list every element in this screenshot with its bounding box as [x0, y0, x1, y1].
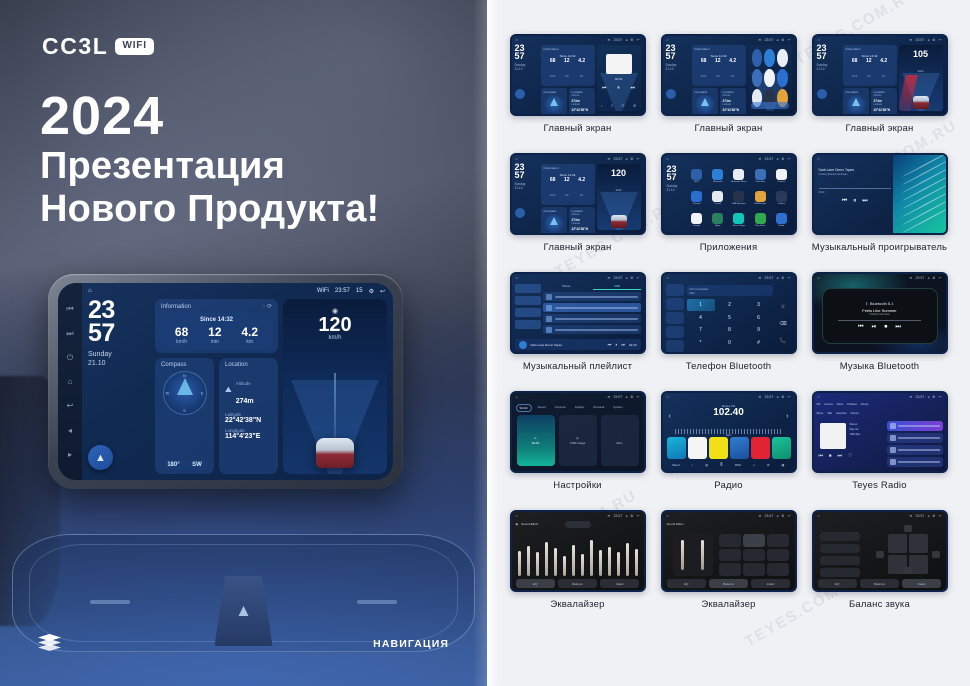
app-icon[interactable]	[733, 213, 744, 224]
volume-down-icon[interactable]: ◂	[66, 426, 75, 435]
app-icon[interactable]	[764, 69, 775, 87]
mini-information-label: Information	[544, 166, 592, 170]
compass-west: W	[166, 391, 170, 396]
home-icon: ⌂	[667, 38, 669, 42]
location-label: Location	[225, 362, 248, 368]
eq-tabs[interactable]: EQBalanceFader	[818, 579, 942, 588]
mini-player-bar[interactable]: Dark Lane Demo Tapes ⏮⏸⏭ 02:40	[515, 339, 641, 350]
wifi-icon: ≋	[607, 38, 610, 42]
back-icon: ↩	[636, 395, 639, 399]
bluetooth-version: ᛒBluetooth 5.1	[866, 301, 894, 306]
eq-preset-label: Sound Effect	[667, 522, 684, 526]
preset-tile	[667, 437, 686, 459]
mini-information-label: Information	[544, 47, 592, 51]
mini-speed-panel: 105km/h	[899, 45, 943, 111]
app-icon[interactable]	[755, 169, 766, 180]
mini-screen[interactable]: ⌂ ≋ 23:57 ◂ ⚙ ↩ 23 57 Sunday21.10 Inform…	[512, 155, 644, 233]
information-icons[interactable]: ◌ ⟳	[262, 303, 272, 310]
thumb-music-playlist[interactable]: ⌂ ≋ 23:57 ◂ ⚙ ↩ PhoneUSB Dark Lane Demo …	[510, 272, 646, 354]
dial-key[interactable]: #	[745, 337, 773, 349]
grid-cell: ⌂ ≋ 23:57 ◂ ⚙ ↩ Not ConnectedDial 123456…	[656, 272, 801, 383]
side-button-rail[interactable]: ⏮ ⏭ ⏻ ⌂ ↩ ◂ ▸	[58, 283, 82, 480]
longitude-row: Longitude 114°4'23"E	[225, 428, 272, 440]
tab-system[interactable]: System	[610, 404, 625, 412]
app-icon[interactable]	[712, 191, 723, 202]
thumb-caption: Приложения	[700, 242, 758, 264]
loc-icon: ⌖	[753, 463, 755, 467]
volume-icon: ◂	[927, 276, 929, 280]
mini-screen[interactable]: ⌂ ≋ 23:57 ◂ ⚙ ↩Sound Effect EQBalanceFad…	[663, 512, 795, 590]
grid-cell: ⌂ ≋ 23:57 ◂ ⚙ ↩ FMGenresNewsPodcastLibra…	[807, 391, 952, 502]
compass-points: N S W E	[164, 372, 206, 414]
widget-column: Information ◌ ⟳ Since 14:32 68	[155, 299, 278, 474]
eq-band-slider[interactable]	[635, 549, 638, 576]
app-icon[interactable]	[776, 169, 787, 180]
balance-right-button[interactable]	[932, 551, 940, 558]
mini-screen[interactable]: ⌂ ≋ 23:57 ◂ ⚙ ↩ Dark Lane Demo Tapes Cha…	[814, 155, 946, 233]
thumb-settings[interactable]: ⌂ ≋ 23:57 ◂ ⚙ ↩ WLANSoundCommonDisplayPe…	[510, 391, 646, 473]
preset-tile	[688, 437, 707, 459]
grid-cell: ⌂ ≋ 23:57 ◂ ⚙ ↩Sound Effect EQBalanceFad…	[656, 510, 801, 621]
eq-band-slider[interactable]	[536, 552, 539, 576]
app-icon[interactable]	[764, 49, 775, 67]
tab-fader[interactable]: Fader	[600, 579, 639, 588]
app-tile[interactable]: Bluetooth Music	[729, 165, 749, 186]
list-item	[887, 421, 943, 431]
mini-stat: 12min	[564, 59, 570, 82]
mini-compass-card: Compass 180°SW	[541, 88, 567, 114]
tab-sound[interactable]: Sound	[535, 404, 549, 412]
teyes-top-tabs[interactable]: FMGenresNewsPodcastLibrary	[817, 403, 943, 406]
thumb-sound-balance[interactable]: ⌂ ≋ 23:57 ◂ ⚙ ↩ EQBalanceFader	[812, 510, 948, 592]
back-icon: ↩	[938, 395, 941, 399]
mini-compass-label: Compass	[544, 90, 564, 94]
mini-location-card: Location Altitude 274m Latitude 22°42'38…	[720, 88, 746, 114]
status-home-icon[interactable]: ⌂	[88, 288, 92, 294]
app-tile[interactable]: Gallery	[771, 187, 791, 208]
home-icon: ⌂	[516, 514, 518, 518]
speed-icon: ◉	[283, 307, 387, 315]
wifi-icon: ≋	[607, 276, 610, 280]
navigation-arrow-icon[interactable]	[515, 208, 525, 218]
app-tile[interactable]: Calculator	[750, 165, 770, 186]
thumb-caption: Главный экран	[544, 242, 612, 264]
mini-time: 23:57	[613, 395, 622, 399]
tab-eq[interactable]: EQ	[818, 579, 857, 588]
list-item[interactable]	[543, 303, 641, 312]
settings-tabs[interactable]: WLANSoundCommonDisplayPersonalSystem	[516, 404, 640, 412]
compass-dial	[544, 214, 564, 233]
compass-header: Compass	[161, 362, 208, 368]
mini-information-label: Information	[846, 47, 894, 51]
eq-band-slider[interactable]	[599, 550, 602, 576]
mini-status-right: ≋ 23:57 ◂ ⚙ ↩	[607, 514, 639, 518]
teyes-filter-row[interactable]: MusicTalkFavoritesRecent	[817, 412, 943, 415]
dial-key[interactable]: 4	[687, 312, 715, 324]
information-label: Information	[161, 304, 191, 310]
navigation-arrow-icon[interactable]	[817, 89, 827, 99]
station-presets[interactable]	[667, 437, 791, 459]
mini-stat: 4.2km	[578, 59, 585, 82]
app-icon[interactable]	[691, 213, 702, 224]
app-tile[interactable]: Google	[687, 209, 707, 230]
compass-dial: N S W E	[163, 371, 207, 415]
gear-icon: ⚙	[781, 276, 784, 280]
mini-latitude-value: 22°42'38"N	[874, 108, 894, 112]
mini-information-card: Information Since 14:32 68km/h12min4.2km	[541, 164, 595, 205]
mini-information-card: Information Since 14:32 68km/h12min4.2km	[541, 45, 595, 86]
radio-toolbar[interactable]: Band⌕▤ ≣RDS⌖ ⚙▦	[667, 461, 791, 469]
list-item[interactable]	[543, 314, 641, 323]
sidebar-item-search	[666, 312, 684, 324]
mini-status-right: ≋ 23:57 ◂ ⚙ ↩	[758, 395, 790, 399]
mini-screen[interactable]: ⌂ ≋ 23:57 ◂ ⚙ ↩ PhoneUSB Dark Lane Demo …	[512, 274, 644, 352]
eq-band-slider[interactable]	[626, 543, 629, 576]
thumb-equalizer-presets[interactable]: ⌂ ≋ 23:57 ◂ ⚙ ↩Sound Effect EQBalanceFad…	[661, 510, 797, 592]
player-controls[interactable]: ⏮⏯⏹⏭	[858, 324, 901, 331]
gear-icon: ⚙	[932, 395, 935, 399]
stat-unit: min	[208, 339, 221, 345]
grid-cell: ⌂ ≋ 23:57 ◂ ⚙ ↩ 23 57 Sunday21.10 Inform…	[505, 153, 650, 264]
app-tile[interactable]: Carlink	[708, 187, 728, 208]
layers-icon	[38, 634, 61, 654]
gear-icon: ⚙	[630, 276, 633, 280]
thumb-caption: Главный экран	[695, 123, 763, 145]
mini-latitude-value: 22°42'38"N	[572, 108, 592, 112]
hero-edge-highlight	[473, 0, 487, 686]
grid-cell: ⌂ ≋ 23:57 ◂ ⚙ ↩‹ › Maybe FM 102.40 Next …	[656, 391, 801, 502]
app-icon[interactable]	[712, 169, 723, 180]
tab-balance[interactable]: Balance	[709, 579, 748, 588]
app-tile[interactable]: FileManager	[750, 187, 770, 208]
mini-compass-card: Compass 180°SW	[692, 88, 718, 114]
mini-home: 23 57 Sunday21.10 Information Since 14:3…	[666, 45, 792, 111]
app-tile[interactable]: Camera	[771, 165, 791, 186]
wifi-icon: ≋	[909, 395, 912, 399]
dial-key[interactable]: *	[687, 337, 715, 349]
tab-eq[interactable]: EQ	[516, 579, 555, 588]
app-icon[interactable]	[691, 191, 702, 202]
back-icon: ↩	[938, 514, 941, 518]
mini-screen[interactable]: ⌂ ≋ 23:57 ◂ ⚙ ↩ EQBalanceFader	[814, 512, 946, 590]
player-controls[interactable]: ⏮⏸⏭	[817, 198, 894, 205]
app-icon[interactable]	[776, 213, 787, 224]
previous-icon: ⏮	[858, 324, 863, 331]
dial-key[interactable]: 5	[716, 312, 744, 324]
bluetooth-player: ᛒBluetooth 5.1 Feels Like Summer Childis…	[822, 288, 938, 344]
tab-balance[interactable]: Balance	[558, 579, 597, 588]
volume-icon: ◂	[927, 395, 929, 399]
mini-app-panel	[748, 45, 792, 111]
mini-trip: Since 14:32 68km/h12min4.2km	[695, 52, 743, 84]
mini-time: 23:57	[915, 38, 924, 42]
home-icon: ⌂	[516, 276, 518, 280]
fader-sliders[interactable]	[673, 534, 713, 576]
tab-fader[interactable]: Fader	[902, 579, 941, 588]
app-tile[interactable]: Radio	[771, 209, 791, 230]
eq-band-slider[interactable]	[518, 551, 521, 576]
app-icon[interactable]	[733, 191, 744, 202]
wifi-icon: ≋	[607, 395, 610, 399]
tab-wlan[interactable]: WLAN	[516, 404, 532, 412]
home-icon: ⌂	[667, 514, 669, 518]
home-icon: ⌂	[818, 514, 820, 518]
app-drawer[interactable]: AUXBluetoothBluetooth MusicCalculatorCam…	[687, 165, 792, 230]
tab-eq[interactable]: EQ	[667, 579, 706, 588]
mini-screen[interactable]: ⌂ ≋ 23:57 ◂ ⚙ ↩ ᛒBluetooth 5.1 Feels Lik…	[814, 274, 946, 352]
mini-status-bar: ⌂ ≋ 23:57 ◂ ⚙ ↩	[814, 274, 946, 282]
mini-screen[interactable]: ⌂ ≋ 23:57 ◂ ⚙ ↩ 23 57 Sunday21.10 Inform…	[512, 36, 644, 114]
mini-latitude-label: Latitude	[723, 103, 743, 106]
eq-band-slider[interactable]	[617, 552, 620, 576]
dialer-actions[interactable]: ☆⌫📞	[775, 299, 792, 349]
eq-band-slider[interactable]	[572, 545, 575, 576]
balance-up-button[interactable]	[904, 525, 912, 532]
app-label: Bluetooth Music	[731, 181, 747, 183]
player-controls[interactable]: ⏮⏹⏭♡	[819, 453, 853, 459]
mini-trip: Since 14:32 68km/h12min4.2km	[846, 52, 894, 84]
thumb-bluetooth-phone[interactable]: ⌂ ≋ 23:57 ◂ ⚙ ↩ Not ConnectedDial 123456…	[661, 272, 797, 354]
information-header: Information ◌ ⟳	[161, 303, 272, 310]
mini-dock[interactable]	[751, 102, 789, 109]
compass-card[interactable]: Compass N S W E	[155, 358, 214, 474]
app-icon[interactable]	[752, 49, 763, 67]
eq-icon: ≣	[720, 463, 723, 467]
compass-dial	[846, 95, 866, 114]
media-extra-controls[interactable]: ♪≡⟳⊕	[597, 103, 641, 108]
tab-personal[interactable]: Personal	[590, 404, 607, 412]
playlist-list[interactable]: PhoneUSB	[543, 284, 641, 338]
thumb-caption: Эквалайзер	[701, 599, 755, 621]
pause-icon: ⏸	[853, 198, 856, 205]
station-list[interactable]	[887, 421, 943, 468]
stop-icon: ⏹	[884, 324, 887, 331]
grid-cell: ⌂ ≋ 23:57 ◂ ⚙ ↩ WLANSoundCommonDisplayPe…	[505, 391, 650, 502]
mini-stats: 68km/h12min4.2km	[697, 59, 741, 82]
list-item[interactable]	[543, 292, 641, 301]
settings-cards[interactable]: ≋WLAN▤Traffic Usage···More	[517, 415, 639, 466]
thumb-home-screen-speed[interactable]: ⌂ ≋ 23:57 ◂ ⚙ ↩ 23 57 Sunday21.10 Inform…	[812, 34, 948, 116]
thumb-bluetooth-music[interactable]: ⌂ ≋ 23:57 ◂ ⚙ ↩ ᛒBluetooth 5.1 Feels Lik…	[812, 272, 948, 354]
tab-display[interactable]: Display	[572, 404, 587, 412]
eq-tabs[interactable]: EQBalanceFader	[516, 579, 640, 588]
thumb-teyes-radio[interactable]: ⌂ ≋ 23:57 ◂ ⚙ ↩ FMGenresNewsPodcastLibra…	[812, 391, 948, 473]
eq-band-slider[interactable]	[545, 542, 548, 576]
mini-screen[interactable]: ⌂ ≋ 23:57 ◂ ⚙ ↩ 23 57 Sunday21.10 AUXBlu…	[663, 155, 795, 233]
mini-screen[interactable]: ⌂ ≋ 23:57 ◂ ⚙ ↩ FMGenresNewsPodcastLibra…	[814, 393, 946, 471]
back-icon: ↩	[636, 157, 639, 161]
back-icon[interactable]: ↩	[66, 401, 75, 410]
thumb-caption: Teyes Radio	[852, 480, 906, 502]
dial-key[interactable]: 6	[745, 312, 773, 324]
mini-status-bar: ⌂ ≋ 23:57 ◂ ⚙ ↩	[814, 512, 946, 520]
power-icon[interactable]: ⏻	[66, 353, 75, 362]
back-icon[interactable]: ↩	[380, 288, 385, 295]
balance-down-button[interactable]	[904, 567, 912, 574]
app-label: FileManager	[754, 203, 766, 205]
app-icon[interactable]	[776, 191, 787, 202]
balance-options[interactable]	[820, 532, 860, 576]
mini-screen[interactable]: ⌂ ≋ 23:57 ◂ ⚙ ↩ 23 57 Sunday21.10 Inform…	[814, 36, 946, 114]
phone-number-field[interactable]: Not ConnectedDial	[687, 285, 773, 296]
volume-up-icon[interactable]: ▸	[66, 450, 75, 459]
mini-clock-minutes: 57	[817, 53, 841, 61]
app-icon[interactable]	[755, 191, 766, 202]
mini-status-bar: ⌂ ≋ 23:57 ◂ ⚙ ↩	[663, 274, 795, 282]
progress-bar[interactable]	[819, 188, 892, 189]
home-icon[interactable]: ⌂	[66, 377, 75, 386]
thumb-equalizer-bands[interactable]: ⌂ ≋ 23:57 ◂ ⚙ ↩◉Sound Effect EQBalanceFa…	[510, 510, 646, 592]
back-icon: ↩	[938, 38, 941, 42]
eq-band-slider[interactable]	[563, 556, 566, 576]
mini-compass-label: Compass	[846, 90, 866, 94]
settings-card[interactable]: ▤Traffic Usage	[559, 415, 597, 466]
tab-balance[interactable]: Balance	[860, 579, 899, 588]
tab-fader[interactable]: Fader	[751, 579, 790, 588]
thumb-home-screen-media[interactable]: ⌂ ≋ 23:57 ◂ ⚙ ↩ 23 57 Sunday21.10 Inform…	[510, 34, 646, 116]
dial-key[interactable]: 1	[687, 299, 715, 311]
gear-icon[interactable]: ⚙	[369, 288, 374, 295]
mini-location-card: Location Altitude 274m Latitude 22°42'38…	[569, 207, 595, 233]
mini-screen[interactable]: ⌂ ≋ 23:57 ◂ ⚙ ↩◉Sound Effect EQBalanceFa…	[512, 512, 644, 590]
head-unit-screen[interactable]: ⏮ ⏭ ⏻ ⌂ ↩ ◂ ▸ ⌂ WiFi 23:57	[58, 283, 393, 480]
screenshot-grid: ⌂ ≋ 23:57 ◂ ⚙ ↩ 23 57 Sunday21.10 Inform…	[487, 0, 970, 631]
eq-band-slider[interactable]	[554, 548, 557, 576]
eq-band-slider[interactable]	[527, 546, 530, 576]
navigation-speed-panel[interactable]: ◉ 120 km/h	[283, 299, 387, 474]
eq-preset-selector[interactable]	[565, 521, 591, 528]
app-icon[interactable]	[733, 169, 744, 180]
app-tile[interactable]: DAB Equalizer	[729, 187, 749, 208]
app-icon[interactable]	[712, 213, 723, 224]
mini-status-bar: ⌂ ≋ 23:57 ◂ ⚙ ↩	[663, 36, 795, 44]
eq-band-slider[interactable]	[581, 554, 584, 576]
app-label: Camera	[778, 181, 786, 183]
navigation-arrow-icon[interactable]	[666, 89, 676, 99]
thumb-home-screen-apps[interactable]: ⌂ ≋ 23:57 ◂ ⚙ ↩ 23 57 Sunday21.10 Inform…	[661, 34, 797, 116]
home-icon: ⌂	[818, 38, 820, 42]
dial-key[interactable]: 7	[687, 325, 715, 337]
thumb-radio[interactable]: ⌂ ≋ 23:57 ◂ ⚙ ↩‹ › Maybe FM 102.40 Next …	[661, 391, 797, 473]
dial-key[interactable]: 8	[716, 325, 744, 337]
dial-key[interactable]: 9	[745, 325, 773, 337]
app-icon[interactable]	[777, 49, 788, 67]
mini-screen[interactable]: ⌂ ≋ 23:57 ◂ ⚙ ↩ WLANSoundCommonDisplayPe…	[512, 393, 644, 471]
thumb-home-screen-nav[interactable]: ⌂ ≋ 23:57 ◂ ⚙ ↩ 23 57 Sunday21.10 Inform…	[510, 153, 646, 235]
card-icon: ▤	[576, 437, 578, 440]
mini-screen[interactable]: ⌂ ≋ 23:57 ◂ ⚙ ↩ Not ConnectedDial 123456…	[663, 274, 795, 352]
volume-icon: ◂	[776, 157, 778, 161]
eq-preset-grid[interactable]	[719, 534, 789, 576]
location-card[interactable]: Location ⛰ Altitude 274m	[219, 358, 278, 474]
mini-stat: 12min	[564, 178, 570, 201]
radio-frequency: 102.40	[663, 408, 795, 419]
mini-status-bar: ⌂ ≋ 23:57 ◂ ⚙ ↩	[814, 393, 946, 401]
app-tile[interactable]: Chrome	[687, 187, 707, 208]
mini-information-card: Information Since 14:32 68km/h12min4.2km	[843, 45, 897, 86]
mini-status-right: ≋ 23:57 ◂ ⚙ ↩	[909, 38, 941, 42]
mini-status-right: ≋ 23:57 ◂ ⚙ ↩	[607, 395, 639, 399]
app-label: DAB Equalizer	[732, 203, 746, 205]
home-icon: ⌂	[667, 157, 669, 161]
wifi-icon: ≋	[909, 38, 912, 42]
preset-tile	[772, 437, 791, 459]
car-3d-model	[611, 215, 627, 228]
app-tile[interactable]: Play Store	[750, 209, 770, 230]
playlist-tabs[interactable]: PhoneUSB	[543, 284, 641, 290]
phone-sidebar[interactable]	[666, 284, 684, 349]
thumb-applications[interactable]: ⌂ ≋ 23:57 ◂ ⚙ ↩ 23 57 Sunday21.10 AUXBlu…	[661, 153, 797, 235]
thumb-caption: Главный экран	[544, 123, 612, 145]
previous-icon: ⏮	[842, 198, 847, 205]
eq-band-slider[interactable]	[608, 547, 611, 576]
information-card[interactable]: Information ◌ ⟳ Since 14:32 68	[155, 299, 278, 353]
speed-readout: 105km/h	[899, 50, 943, 77]
navigation-arrow-icon[interactable]: ▲	[88, 445, 113, 470]
preset-button	[743, 534, 765, 547]
mini-status-right: ≋ 23:57 ◂ ⚙ ↩	[758, 157, 790, 161]
status-volume: 15	[356, 288, 363, 294]
gear-icon: ⚙	[932, 514, 935, 518]
app-icon[interactable]	[755, 213, 766, 224]
dial-key[interactable]: 3	[745, 299, 773, 311]
mini-screen[interactable]: ⌂ ≋ 23:57 ◂ ⚙ ↩ 23 57 Sunday21.10 Inform…	[663, 36, 795, 114]
app-tile[interactable]: Music Player	[729, 209, 749, 230]
volume-icon: ◂	[625, 38, 627, 42]
sidebar-item-contacts	[666, 298, 684, 310]
gear-icon: ⚙	[781, 38, 784, 42]
dial-key[interactable]: 2	[716, 299, 744, 311]
stat-item: 4.2 km	[241, 326, 258, 345]
dial-key[interactable]: 0	[716, 337, 744, 349]
compass-degrees: 180°	[167, 462, 179, 468]
product-logo: CC3L WIFI	[42, 33, 154, 60]
app-tile[interactable]: Maps	[708, 209, 728, 230]
grid-cell: ⌂ ≋ 23:57 ◂ ⚙ ↩ Dark Lane Demo Tapes Cha…	[807, 153, 952, 264]
mini-screen[interactable]: ⌂ ≋ 23:57 ◂ ⚙ ↩‹ › Maybe FM 102.40 Next …	[663, 393, 795, 471]
eq-tabs[interactable]: EQBalanceFader	[667, 579, 791, 588]
gear-icon: ⚙	[781, 395, 784, 399]
mini-altitude-label: Altitude	[572, 94, 592, 97]
list-item[interactable]	[543, 325, 641, 334]
balance-left-button[interactable]	[876, 551, 884, 558]
progress-bar[interactable]	[838, 320, 920, 321]
mini-status-right: ≋ 23:57 ◂ ⚙ ↩	[909, 276, 941, 280]
mini-app-grid[interactable]	[752, 49, 788, 107]
app-tile[interactable]: AUX	[687, 165, 707, 186]
app-icon[interactable]	[752, 69, 763, 87]
media-controls[interactable]: ⏮⏸⏭	[597, 85, 641, 91]
prev-track-icon[interactable]: ⏮	[66, 304, 75, 313]
thumb-music-player[interactable]: ⌂ ≋ 23:57 ◂ ⚙ ↩ Dark Lane Demo Tapes Cha…	[812, 153, 948, 235]
equalizer-bands[interactable]	[518, 534, 638, 576]
tab-common[interactable]: Common	[552, 404, 569, 412]
card-icon: ···	[618, 437, 621, 440]
dial-pad[interactable]: 123456789*0#	[687, 299, 773, 349]
eq-band-slider[interactable]	[590, 540, 593, 576]
app-icon[interactable]	[691, 169, 702, 180]
navigation-arrow-icon[interactable]	[515, 89, 525, 99]
grid-cell: ⌂ ≋ 23:57 ◂ ⚙ ↩ EQBalanceFader Баланс зв…	[807, 510, 952, 621]
clock-day: Sunday	[88, 350, 150, 359]
app-tile[interactable]: Bluetooth	[708, 165, 728, 186]
app-icon[interactable]	[777, 69, 788, 87]
settings-card[interactable]: ≋WLAN	[517, 415, 555, 466]
wifi-icon: ≋	[758, 38, 761, 42]
settings-card[interactable]: ···More	[601, 415, 639, 466]
next-track-icon[interactable]: ⏭	[66, 329, 75, 338]
card-label: Traffic Usage	[570, 442, 585, 445]
